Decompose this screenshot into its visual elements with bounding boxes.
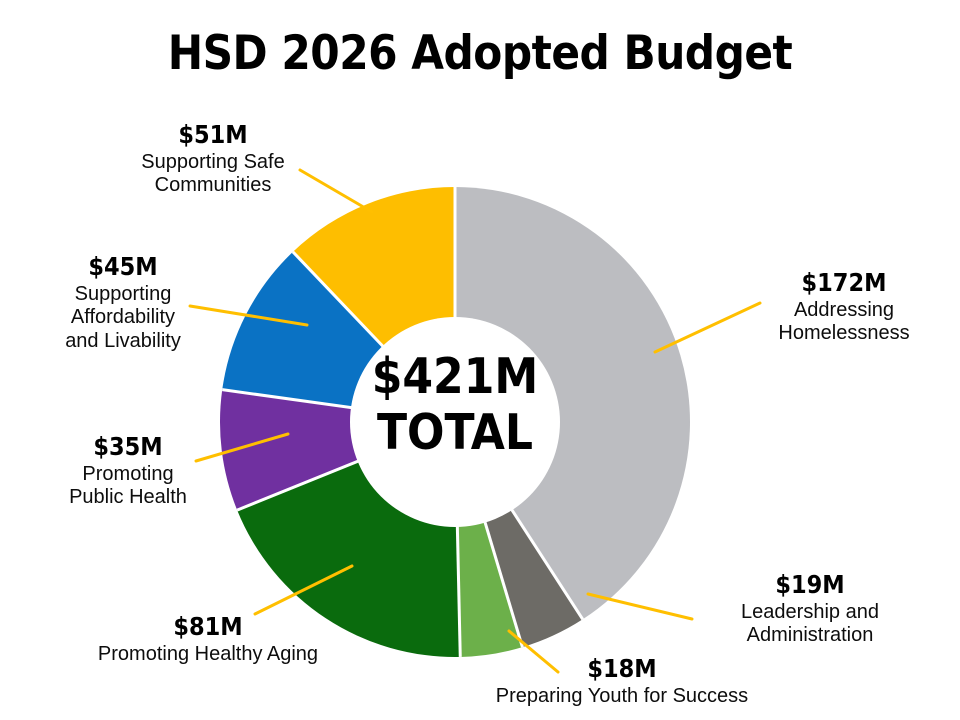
callout-amount: $18M xyxy=(472,654,772,684)
callout-description: Supporting Safe Communities xyxy=(88,151,338,198)
callout-amount: $19M xyxy=(690,570,930,600)
callout-promoting-public-health[interactable]: $35M Promoting Public Health xyxy=(28,432,228,510)
callout-addressing-homelessness[interactable]: $172M Addressing Homelessness xyxy=(738,268,950,346)
callout-promoting-healthy-aging[interactable]: $81M Promoting Healthy Aging xyxy=(58,612,358,666)
callout-amount: $35M xyxy=(28,432,228,462)
leader-line-leadership-and-administration xyxy=(588,594,692,619)
donut-hole xyxy=(350,317,560,527)
callout-leadership-and-administration[interactable]: $19M Leadership and Administration xyxy=(690,570,930,648)
callout-description: Supporting Affordability and Livability xyxy=(18,283,228,354)
callout-amount: $81M xyxy=(58,612,358,642)
callout-description: Promoting Public Health xyxy=(28,463,228,510)
callout-description: Leadership and Administration xyxy=(690,601,930,648)
callout-amount: $45M xyxy=(18,252,228,282)
chart-canvas: HSD 2026 Adopted Budget xyxy=(0,0,960,720)
callout-supporting-safe-communities[interactable]: $51M Supporting Safe Communities xyxy=(88,120,338,198)
callout-description: Addressing Homelessness xyxy=(738,299,950,346)
callout-amount: $51M xyxy=(88,120,338,150)
callout-preparing-youth-for-success[interactable]: $18M Preparing Youth for Success xyxy=(472,654,772,708)
callout-supporting-affordability-and-livability[interactable]: $45M Supporting Affordability and Livabi… xyxy=(18,252,228,353)
callout-description: Preparing Youth for Success xyxy=(472,685,772,709)
callout-amount: $172M xyxy=(738,268,950,298)
callout-description: Promoting Healthy Aging xyxy=(58,643,358,667)
